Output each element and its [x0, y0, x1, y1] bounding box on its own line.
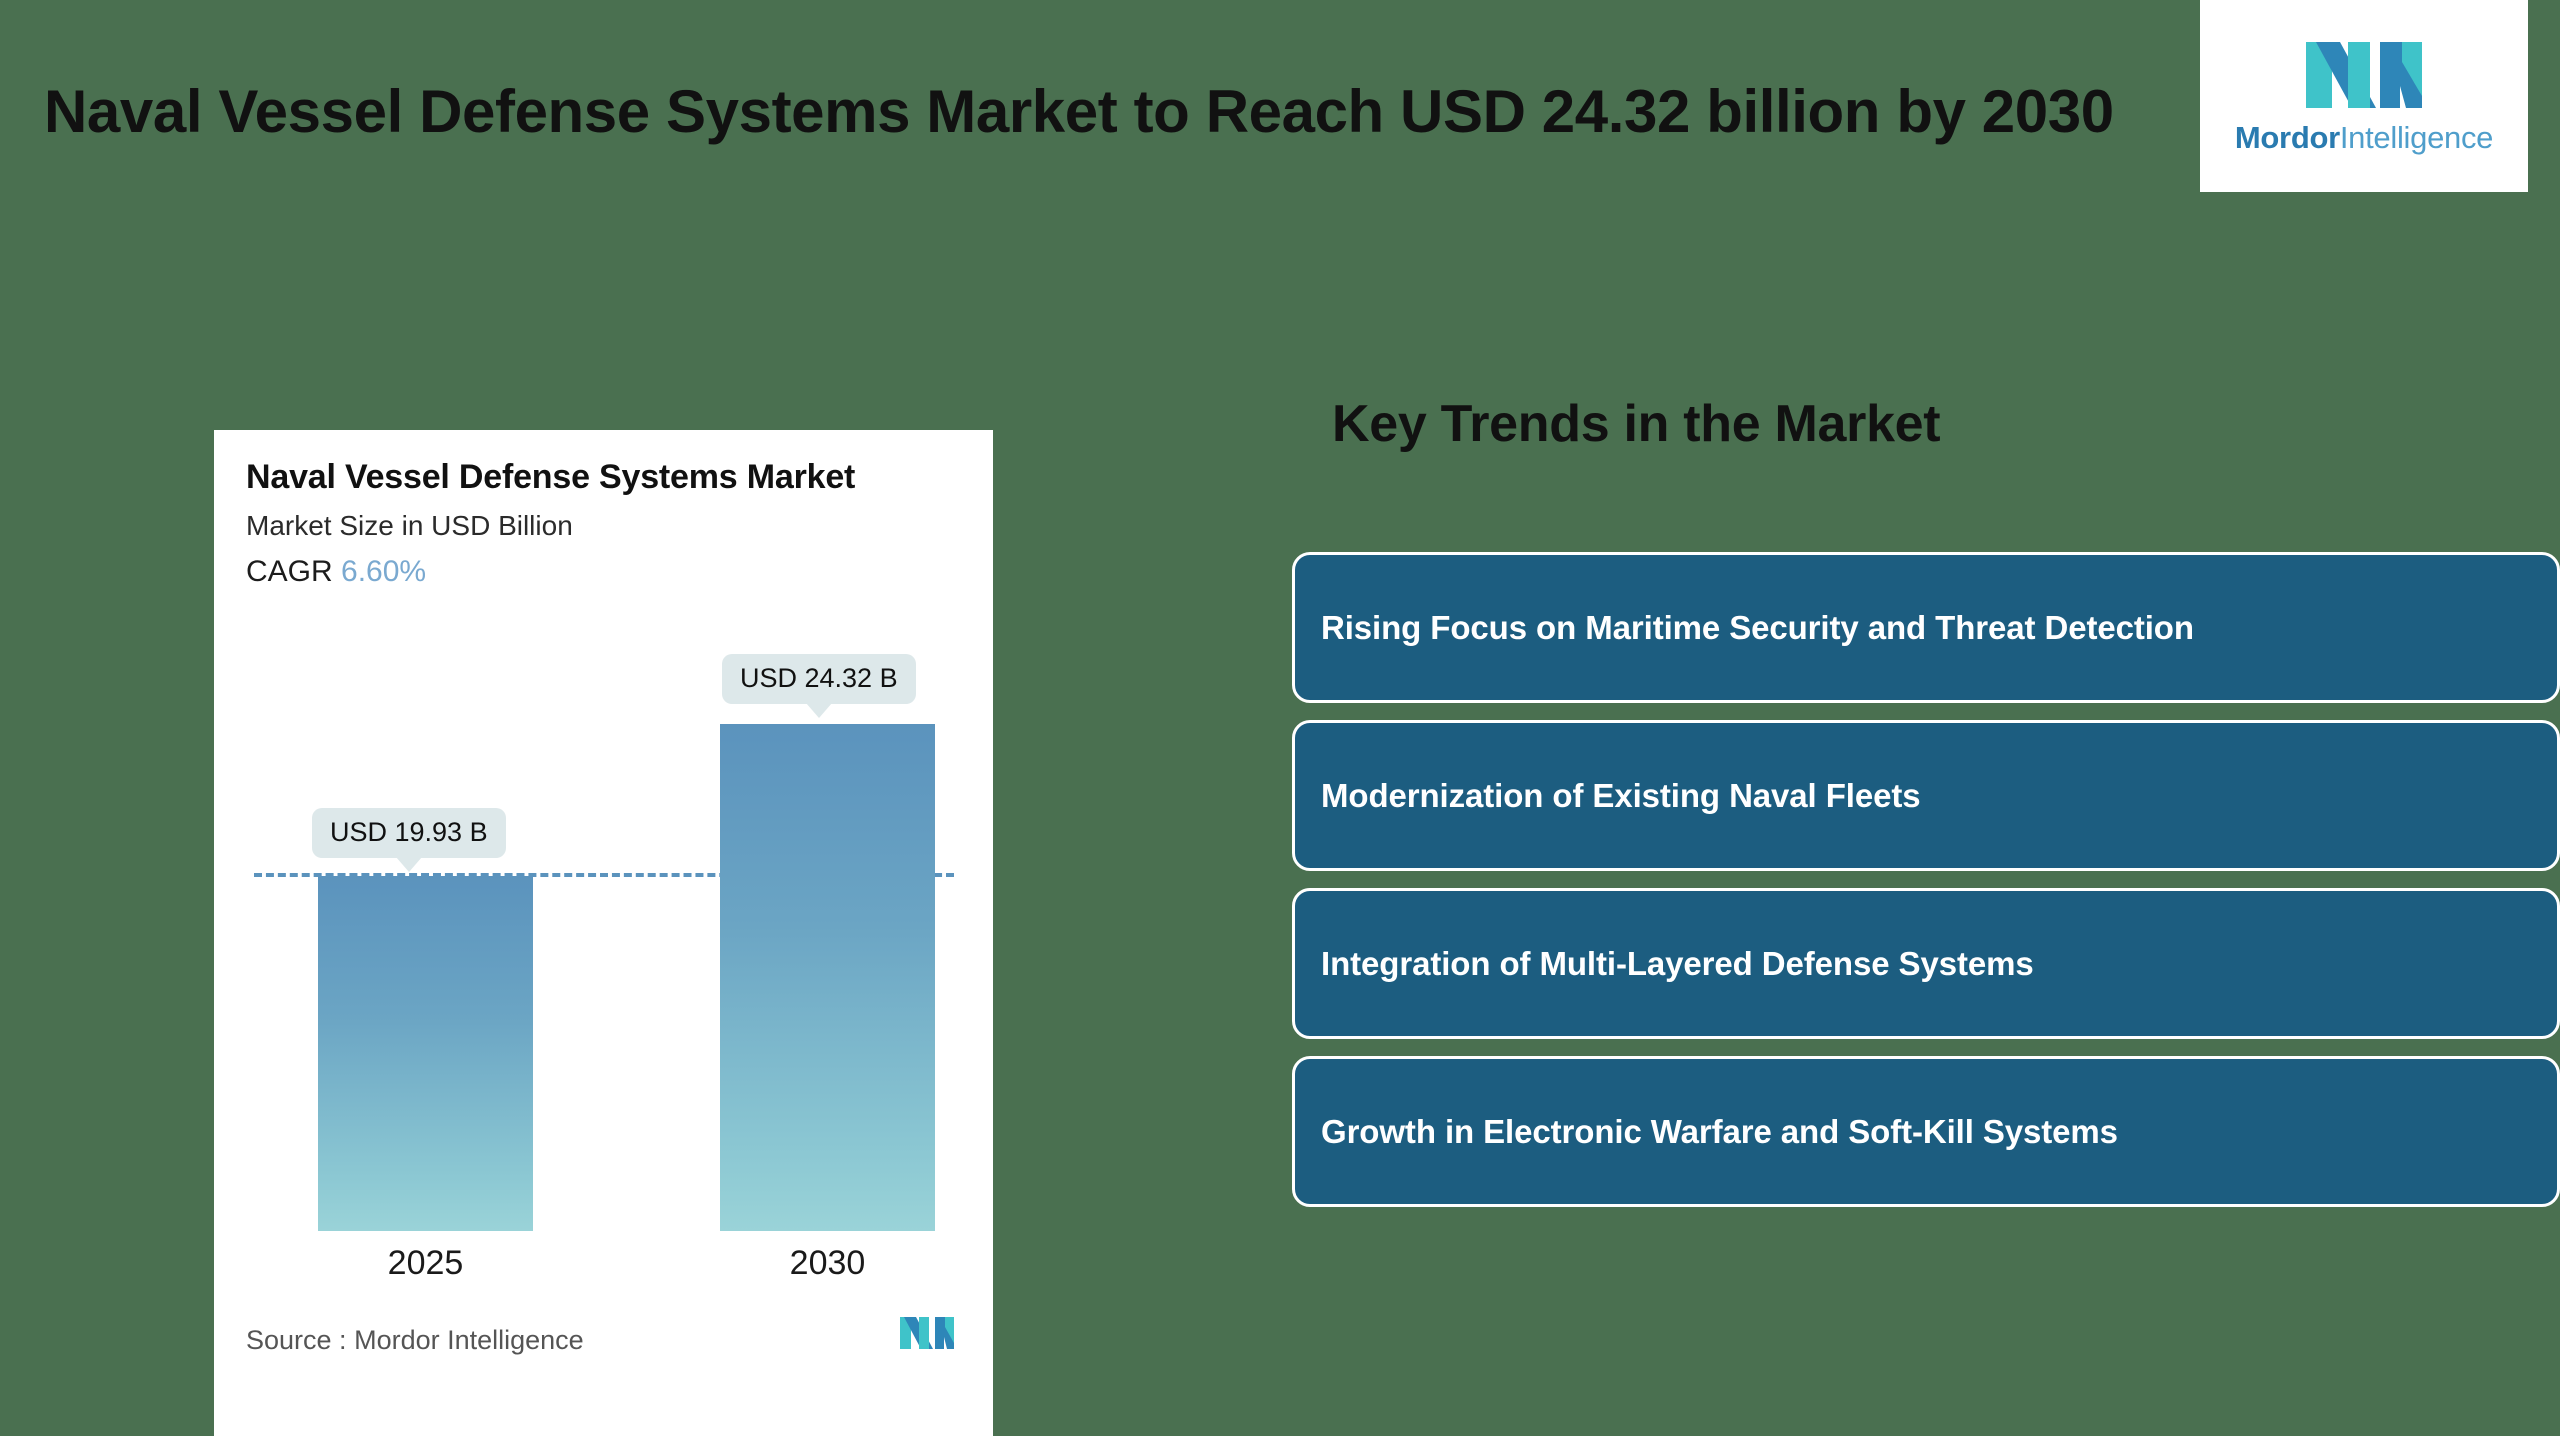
trends-heading: Key Trends in the Market [1332, 394, 1940, 454]
brand-wordmark: MordorIntelligence [2235, 120, 2493, 156]
brand-logo-box: MordorIntelligence [2200, 0, 2528, 192]
trends-list: Rising Focus on Maritime Security and Th… [1292, 552, 2560, 1207]
bar-chart-plot: USD 19.93 B USD 24.32 B 2025 2030 [214, 430, 993, 1436]
trend-card-label: Integration of Multi-Layered Defense Sys… [1321, 944, 2034, 984]
page-title: Naval Vessel Defense Systems Market to R… [44, 78, 2154, 145]
trend-card-label: Growth in Electronic Warfare and Soft-Ki… [1321, 1112, 2118, 1152]
trend-card-1[interactable]: Rising Focus on Maritime Security and Th… [1292, 552, 2560, 703]
trend-card-4[interactable]: Growth in Electronic Warfare and Soft-Ki… [1292, 1056, 2560, 1207]
x-axis-label-2025: 2025 [318, 1244, 533, 1283]
mordor-intelligence-logo-icon [2302, 36, 2426, 114]
mordor-intelligence-mark-icon [898, 1314, 956, 1352]
chart-source: Source : Mordor Intelligence [246, 1325, 584, 1356]
bar-2030 [720, 724, 935, 1231]
chart-source-label: Source : [246, 1325, 347, 1355]
trend-card-2[interactable]: Modernization of Existing Naval Fleets [1292, 720, 2560, 871]
trend-card-label: Rising Focus on Maritime Security and Th… [1321, 608, 2194, 648]
trend-card-3[interactable]: Integration of Multi-Layered Defense Sys… [1292, 888, 2560, 1039]
brand-name-bold: Mordor [2235, 120, 2340, 155]
bar-value-label-2030: USD 24.32 B [722, 654, 916, 704]
chart-card: Naval Vessel Defense Systems Market Mark… [214, 430, 993, 1436]
bar-value-label-2025: USD 19.93 B [312, 808, 506, 858]
bar-2025 [318, 876, 533, 1231]
chart-source-value: Mordor Intelligence [354, 1325, 584, 1355]
x-axis-label-2030: 2030 [720, 1244, 935, 1283]
brand-name-regular: Intelligence [2340, 120, 2493, 155]
trend-card-label: Modernization of Existing Naval Fleets [1321, 776, 1920, 816]
